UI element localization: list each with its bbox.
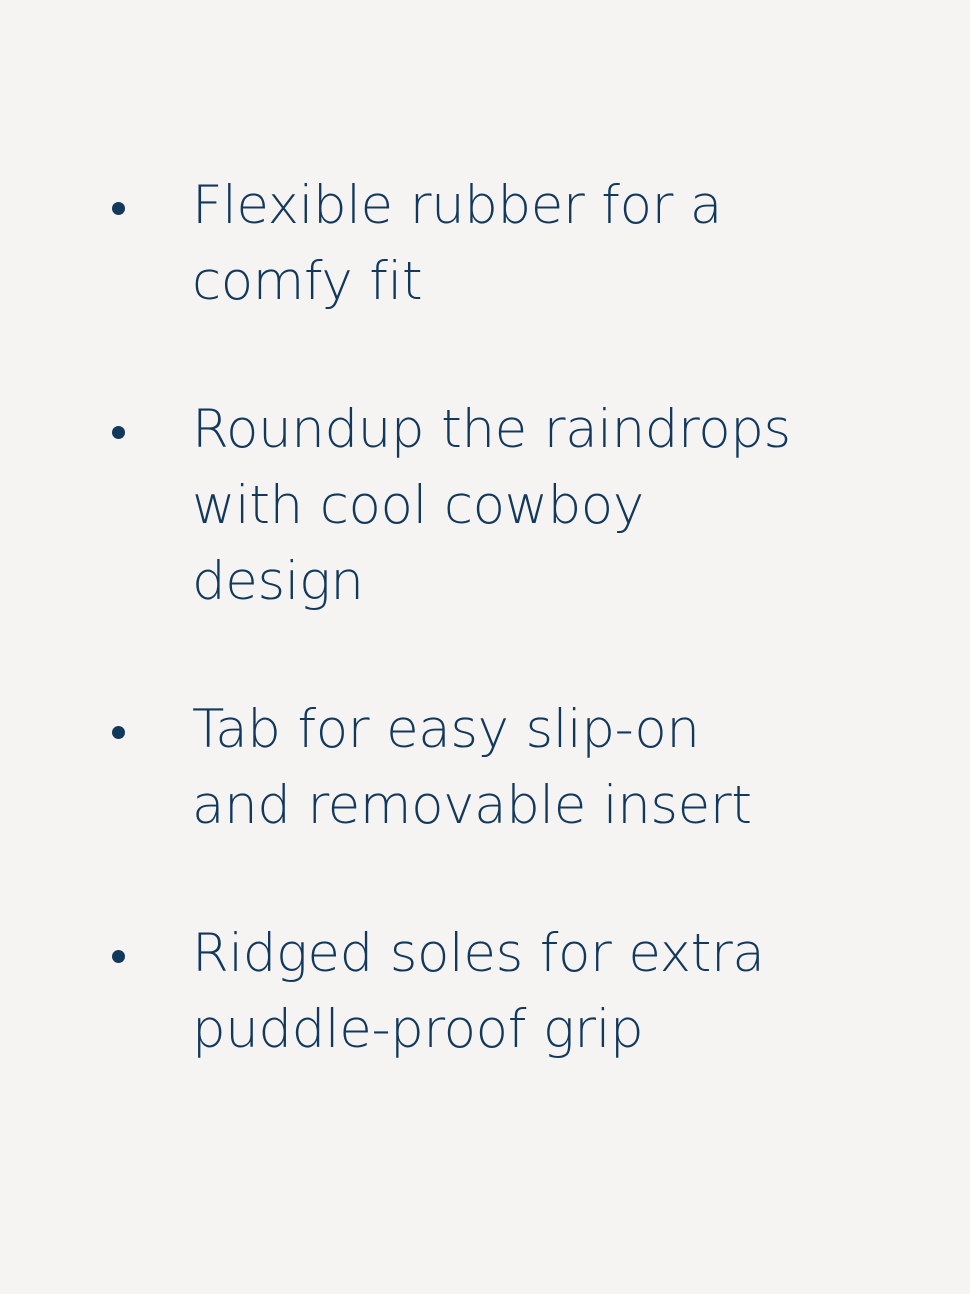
bullet-point-icon — [112, 726, 125, 739]
list-item: Tab for easy slip-on and removable inser… — [0, 692, 970, 844]
bullet-point-icon — [112, 202, 125, 215]
list-item: Ridged soles for extra puddle-proof grip — [0, 916, 970, 1068]
feature-bullet-list: Flexible rubber for a comfy fit Roundup … — [0, 0, 970, 1068]
feature-text: Flexible rubber for a comfy fit — [192, 168, 890, 320]
product-feature-slide: Flexible rubber for a comfy fit Roundup … — [0, 0, 970, 1294]
feature-text: Tab for easy slip-on and removable inser… — [192, 692, 890, 844]
list-item: Roundup the raindrops with cool cowboy d… — [0, 392, 970, 620]
feature-text: Ridged soles for extra puddle-proof grip — [192, 916, 890, 1068]
bullet-point-icon — [112, 426, 125, 439]
bullet-point-icon — [112, 950, 125, 963]
feature-text: Roundup the raindrops with cool cowboy d… — [192, 392, 890, 620]
list-item: Flexible rubber for a comfy fit — [0, 168, 970, 320]
